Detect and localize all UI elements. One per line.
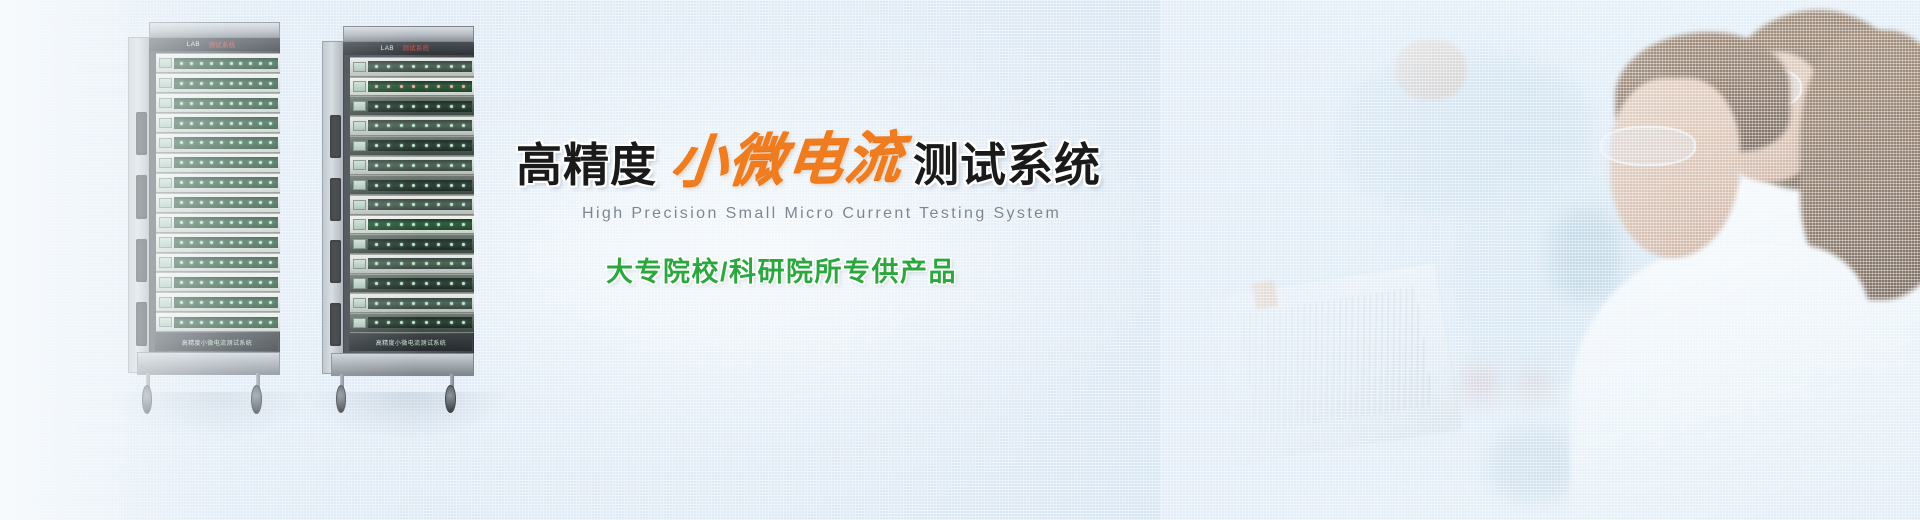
rack-base-label: 高精度小微电流测试系统: [155, 333, 278, 351]
module-channel-strip: [174, 197, 278, 208]
module-channel-strip: [174, 217, 278, 228]
equipment-rack-left: LAB 测试系统: [128, 22, 280, 404]
rack-module-stack: [156, 53, 280, 332]
instrument-module: [156, 53, 280, 73]
module-display: [353, 180, 366, 190]
module-channel-strip: [368, 120, 472, 131]
module-display: [159, 198, 172, 208]
module-channel-strip: [368, 278, 472, 289]
module-display: [353, 278, 366, 288]
lab-blur-shape: [1280, 250, 1460, 450]
module-channel-strip: [174, 137, 278, 148]
instrument-module: [350, 57, 474, 77]
post-vent-slot: [330, 303, 341, 346]
instrument-module: [350, 234, 474, 254]
module-display: [353, 318, 366, 328]
module-display: [353, 141, 366, 151]
module-channel-strip: [174, 177, 278, 188]
post-vent-slot: [136, 302, 147, 345]
instrument-module: [156, 173, 280, 193]
rack-brand-plate: LAB 测试系统: [149, 38, 280, 51]
module-display: [353, 62, 366, 72]
rack-base-label: 高精度小微电流测试系统: [349, 334, 472, 351]
module-display: [159, 317, 172, 327]
rack-caster: [251, 385, 262, 414]
module-display: [159, 118, 172, 128]
module-channel-strip: [368, 61, 472, 72]
module-display: [353, 259, 366, 269]
instrument-module: [156, 153, 280, 173]
module-display: [159, 217, 172, 227]
photo-background: [1160, 0, 1920, 520]
module-channel-strip: [174, 117, 278, 128]
module-display: [353, 219, 366, 229]
instrument-module: [350, 175, 474, 195]
banner-headline: 高精度 小微电流 测试系统: [516, 126, 1136, 188]
module-channel-strip: [174, 78, 278, 89]
module-channel-strip: [368, 199, 472, 210]
instrument-module: [350, 96, 474, 116]
module-channel-strip: [368, 317, 472, 328]
researcher-hand: [1396, 40, 1466, 100]
module-channel-strip: [368, 180, 472, 191]
instrument-module: [156, 253, 280, 273]
instrument-module: [350, 313, 474, 333]
module-channel-strip: [174, 157, 278, 168]
instrument-module: [156, 193, 280, 213]
rack-top-cap: [149, 22, 280, 38]
equipment-rack-right: LAB 测试系统: [322, 26, 474, 404]
instrument-module: [156, 292, 280, 312]
lab-blur-shape: [1460, 365, 1500, 401]
instrument-module: [350, 215, 474, 235]
module-display: [353, 81, 366, 91]
rack-brand-plate: LAB 测试系统: [343, 42, 474, 55]
module-display: [353, 200, 366, 210]
instrument-module: [156, 272, 280, 292]
notepad-tab: [1252, 280, 1278, 309]
researcher-photo: [1160, 0, 1920, 520]
banner-subtitle-english: High Precision Small Micro Current Testi…: [516, 205, 1136, 223]
rack-caster: [445, 385, 456, 413]
promo-banner: LAB 测试系统: [0, 0, 1920, 520]
headline-suffix: 测试系统: [913, 142, 1101, 188]
rack-base-plinth: [331, 353, 474, 376]
rack-brand-label: LAB: [380, 45, 393, 51]
notepad: [1208, 261, 1462, 465]
post-vent-slot: [136, 112, 147, 155]
instrument-module: [350, 136, 474, 156]
eyeglasses: [1600, 126, 1696, 166]
rack-caster: [336, 385, 347, 413]
researcher-face: [1610, 78, 1740, 258]
rack-base-plinth: [137, 352, 280, 375]
module-display: [159, 257, 172, 267]
instrument-module: [156, 133, 280, 153]
researcher-coat: [1570, 245, 1870, 520]
post-vent-slot: [330, 115, 341, 158]
lab-blur-shape: [1490, 430, 1580, 500]
post-vent-slot: [330, 240, 341, 283]
instrument-module: [156, 93, 280, 113]
rack-top-cap: [343, 26, 474, 42]
module-channel-strip: [368, 239, 472, 250]
researcher-hair: [1720, 10, 1910, 190]
module-display: [353, 101, 366, 111]
module-display: [353, 298, 366, 308]
researcher-coat: [1680, 150, 1920, 520]
module-display: [159, 237, 172, 247]
module-channel-strip: [368, 101, 472, 112]
lab-blur-shape: [1550, 210, 1620, 300]
lab-blur-shape: [1340, 60, 1590, 210]
module-channel-strip: [368, 298, 472, 309]
module-display: [353, 121, 366, 131]
module-channel-strip: [368, 258, 472, 269]
module-display: [159, 297, 172, 307]
post-vent-slot: [330, 178, 341, 221]
module-display: [159, 58, 172, 68]
module-display: [159, 98, 172, 108]
post-vent-slot: [136, 175, 147, 218]
instrument-module: [350, 274, 474, 294]
module-display: [353, 239, 366, 249]
module-channel-strip: [368, 81, 472, 92]
rack-module-stack: [350, 57, 474, 333]
module-channel-strip: [368, 140, 472, 151]
instrument-module: [156, 233, 280, 253]
instrument-module: [156, 213, 280, 233]
instrument-module: [156, 73, 280, 93]
post-vent-slot: [136, 239, 147, 282]
module-channel-strip: [368, 160, 472, 171]
rack-brand-label: LAB: [186, 41, 199, 47]
instrument-module: [156, 113, 280, 133]
lab-blur-shape: [1460, 170, 1660, 390]
instrument-module: [350, 77, 474, 97]
researcher-face: [1716, 52, 1826, 182]
instrument-module: [350, 156, 474, 176]
rack-model-label: 测试系统: [403, 44, 430, 53]
module-display: [159, 277, 172, 287]
module-channel-strip: [174, 58, 278, 69]
banner-tagline: 大专院校/科研院所专供产品: [516, 250, 1136, 289]
module-display: [159, 78, 172, 88]
module-channel-strip: [174, 98, 278, 109]
module-channel-strip: [174, 297, 278, 308]
headline-prefix: 高精度: [516, 142, 657, 188]
module-display: [353, 160, 366, 170]
module-channel-strip: [368, 219, 472, 230]
rack-caster: [142, 385, 153, 414]
researcher-hair: [1800, 30, 1920, 300]
notepad-lines: [1238, 287, 1435, 434]
module-channel-strip: [174, 237, 278, 248]
instrument-module: [350, 254, 474, 274]
module-channel-strip: [174, 257, 278, 268]
banner-copy: 高精度 小微电流 测试系统 High Precision Small Micro…: [516, 126, 1136, 289]
module-display: [159, 158, 172, 168]
photo-left-fade: [1160, 0, 1920, 520]
module-display: [159, 178, 172, 188]
instrument-module: [350, 293, 474, 313]
safety-glasses: [1716, 66, 1802, 110]
instrument-module: [350, 195, 474, 215]
researcher-hair: [1615, 32, 1790, 152]
photo-veil: [1160, 0, 1920, 520]
module-channel-strip: [174, 317, 278, 328]
module-channel-strip: [174, 277, 278, 288]
instrument-module: [350, 116, 474, 136]
instrument-module: [156, 312, 280, 332]
module-display: [159, 138, 172, 148]
rack-model-label: 测试系统: [209, 40, 236, 49]
lab-blur-shape: [1515, 368, 1551, 400]
headline-emphasis: 小微电流: [668, 130, 906, 191]
